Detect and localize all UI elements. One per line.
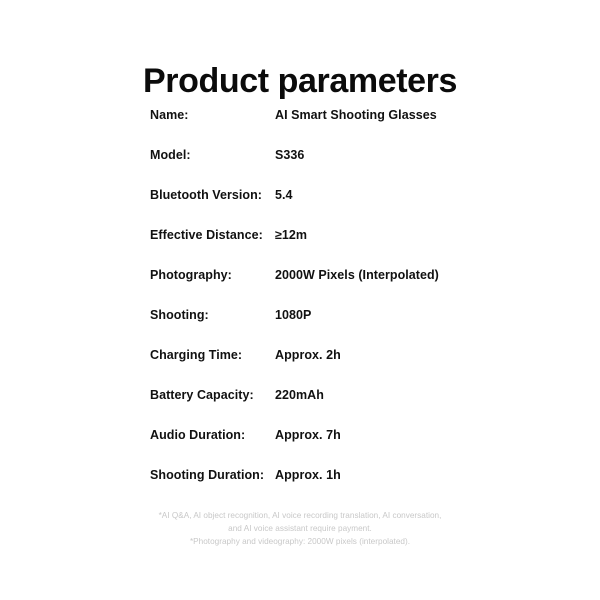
spec-value: ≥12m <box>273 228 307 242</box>
spec-value: 220mAh <box>273 388 324 402</box>
spec-row: Shooting Duration:Approx. 1h <box>150 468 480 508</box>
spec-row: Effective Distance:≥12m <box>150 228 480 268</box>
spec-row: Model:S336 <box>150 148 480 188</box>
spec-label: Battery Capacity: <box>150 388 273 402</box>
spec-label: Name: <box>150 108 273 122</box>
spec-label: Shooting: <box>150 308 273 322</box>
spec-value: 2000W Pixels (Interpolated) <box>273 268 439 282</box>
specification-table: Name:AI Smart Shooting GlassesModel:S336… <box>150 108 480 508</box>
spec-row: Charging Time:Approx. 2h <box>150 348 480 388</box>
product-parameters-page: Product parameters Name:AI Smart Shootin… <box>0 0 600 600</box>
spec-label: Model: <box>150 148 273 162</box>
spec-row: Bluetooth Version:5.4 <box>150 188 480 228</box>
spec-label: Shooting Duration: <box>150 468 273 482</box>
footnote-line: and AI voice assistant require payment. <box>0 522 600 535</box>
footnote-line: *Photography and videography: 2000W pixe… <box>0 535 600 548</box>
spec-row: Name:AI Smart Shooting Glasses <box>150 108 480 148</box>
spec-value: S336 <box>273 148 304 162</box>
spec-row: Battery Capacity:220mAh <box>150 388 480 428</box>
page-title: Product parameters <box>0 64 600 98</box>
spec-label: Bluetooth Version: <box>150 188 273 202</box>
spec-label: Charging Time: <box>150 348 273 362</box>
spec-row: Audio Duration:Approx. 7h <box>150 428 480 468</box>
spec-label: Effective Distance: <box>150 228 273 242</box>
spec-value: Approx. 7h <box>273 428 341 442</box>
spec-row: Shooting:1080P <box>150 308 480 348</box>
spec-label: Audio Duration: <box>150 428 273 442</box>
spec-value: Approx. 2h <box>273 348 341 362</box>
footnote-block: *AI Q&A, AI object recognition, AI voice… <box>0 509 600 549</box>
footnote-line: *AI Q&A, AI object recognition, AI voice… <box>0 509 600 522</box>
spec-value: Approx. 1h <box>273 468 341 482</box>
spec-label: Photography: <box>150 268 273 282</box>
spec-row: Photography:2000W Pixels (Interpolated) <box>150 268 480 308</box>
spec-value: 1080P <box>273 308 311 322</box>
spec-value: 5.4 <box>273 188 293 202</box>
spec-value: AI Smart Shooting Glasses <box>273 108 437 122</box>
